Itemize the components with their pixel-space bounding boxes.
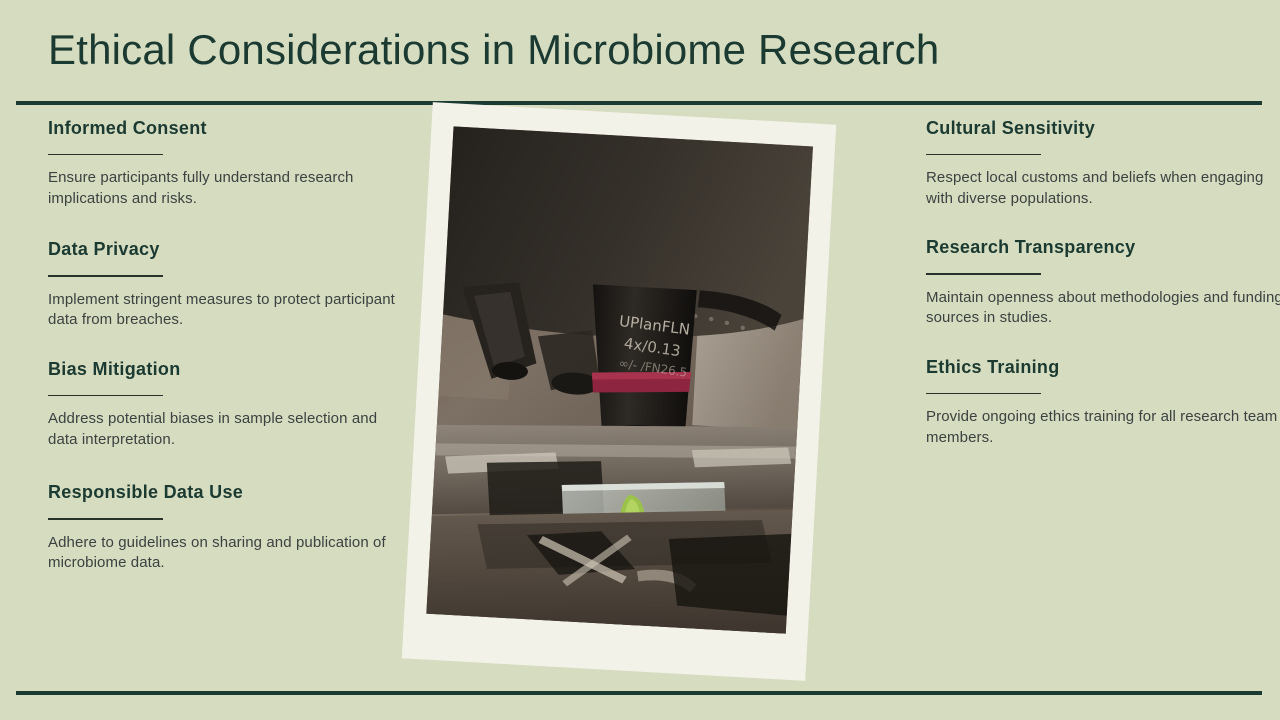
block-data-privacy: Data Privacy Implement stringent measure… [48,239,408,330]
heading-underline [926,154,1041,156]
heading-underline [48,275,163,277]
block-body: Adhere to guidelines on sharing and publ… [48,533,408,574]
block-ethics-training: Ethics Training Provide ongoing ethics t… [926,357,1280,448]
block-research-transparency: Research Transparency Maintain openness … [926,237,1280,328]
block-bias-mitigation: Bias Mitigation Address potential biases… [48,359,408,450]
header-divider [16,101,1262,105]
block-heading: Research Transparency [926,237,1280,259]
block-responsible-data-use: Responsible Data Use Adhere to guideline… [48,482,408,573]
block-body: Provide ongoing ethics training for all … [926,407,1280,448]
heading-underline [48,395,163,397]
block-heading: Bias Mitigation [48,359,408,381]
block-informed-consent: Informed Consent Ensure participants ful… [48,118,408,209]
microscope-illustration: UPlanFLN 4x/0.13 ∞/- /FN26.5 [426,126,813,633]
heading-underline [48,154,163,156]
heading-underline [48,518,163,520]
block-heading: Informed Consent [48,118,408,140]
footer-divider [16,691,1262,695]
page-title: Ethical Considerations in Microbiome Res… [48,26,939,74]
block-cultural-sensitivity: Cultural Sensitivity Respect local custo… [926,118,1280,209]
block-body: Respect local customs and beliefs when e… [926,168,1280,209]
left-column: Informed Consent Ensure participants ful… [48,118,408,596]
heading-underline [926,273,1041,275]
block-heading: Ethics Training [926,357,1280,379]
block-heading: Responsible Data Use [48,482,408,504]
block-heading: Cultural Sensitivity [926,118,1280,140]
heading-underline [926,393,1041,395]
block-body: Address potential biases in sample selec… [48,409,408,450]
right-column: Cultural Sensitivity Respect local custo… [926,118,1280,470]
block-body: Maintain openness about methodologies an… [926,288,1280,329]
slide-root: Ethical Considerations in Microbiome Res… [0,0,1280,720]
microscope-photo-frame: UPlanFLN 4x/0.13 ∞/- /FN26.5 [402,102,836,681]
block-body: Implement stringent measures to protect … [48,290,408,331]
block-body: Ensure participants fully understand res… [48,168,408,209]
block-heading: Data Privacy [48,239,408,261]
microscope-photo: UPlanFLN 4x/0.13 ∞/- /FN26.5 [426,126,813,633]
